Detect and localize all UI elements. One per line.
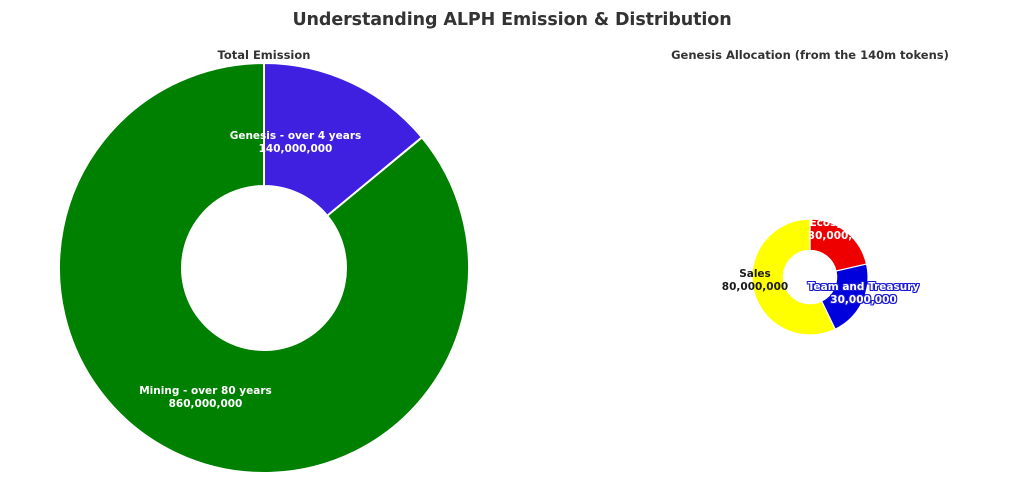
total-emission-donut	[59, 63, 469, 473]
chart-figure: Understanding ALPH Emission & Distributi…	[0, 0, 1024, 480]
genesis-allocation-donut	[752, 219, 868, 335]
donut-hole-genesis-allocation	[783, 250, 837, 304]
donut-hole-total-emission	[182, 186, 346, 350]
donut-charts-canvas	[0, 0, 1024, 480]
